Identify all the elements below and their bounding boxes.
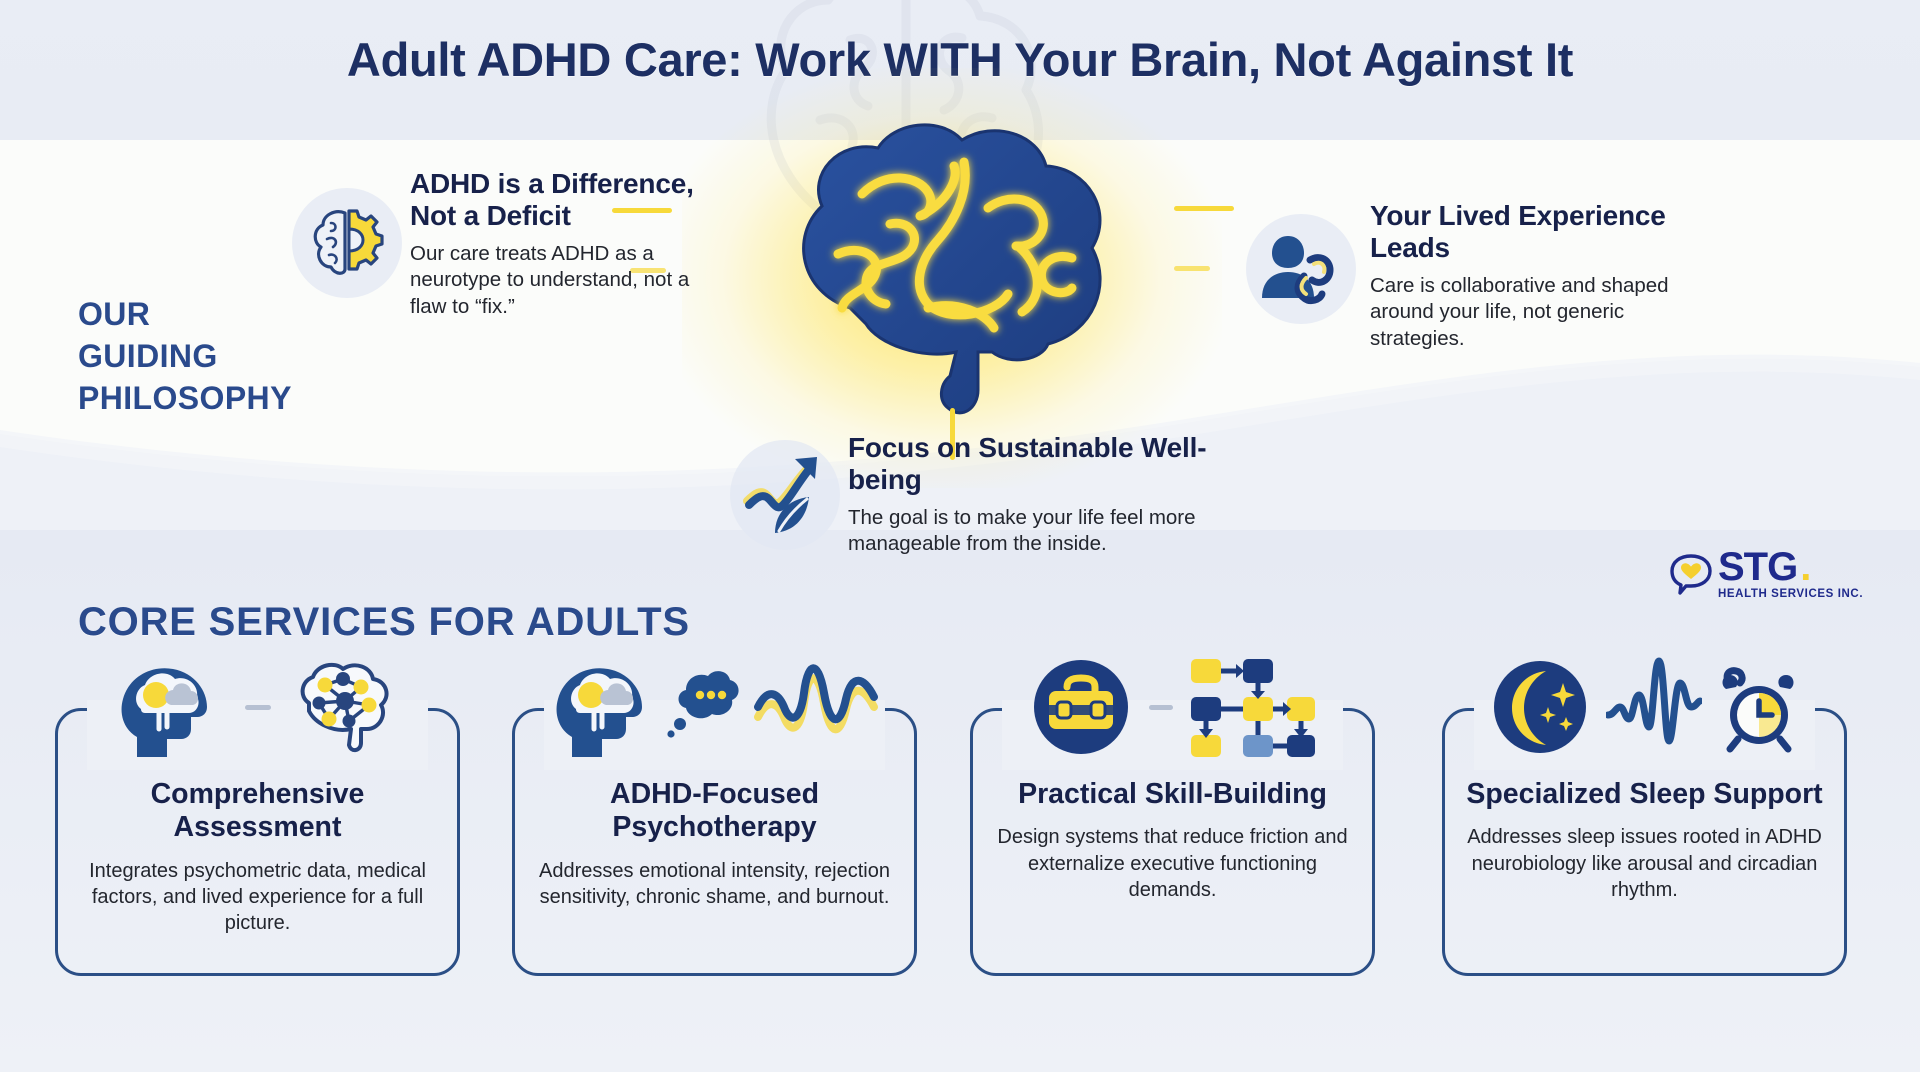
card-description: Integrates psychometric data, medical fa…: [75, 858, 440, 937]
card-description: Addresses emotional intensity, rejection…: [532, 858, 897, 910]
card-title: Comprehensive Assessment: [75, 778, 440, 845]
head-clouds-icon: [111, 653, 231, 761]
alarm-clock-icon: [1716, 661, 1802, 753]
thought-bubble-icon: [664, 664, 740, 750]
card-icons: [512, 648, 917, 766]
stg-logo: STG . HEALTH SERVICES INC.: [1668, 548, 1863, 600]
toolbox-icon: [1027, 653, 1135, 761]
person-link-glyph: [1258, 226, 1344, 312]
waveform-icon: [1606, 655, 1702, 759]
card-body: ADHD-Focused Psychotherapy Addresses emo…: [512, 778, 917, 910]
philosophy-body-1: Our care treats ADHD as a neurotype to u…: [410, 241, 710, 321]
logo-name: STG: [1718, 548, 1797, 586]
brain-svg: [742, 108, 1162, 438]
philosophy-label-line-3: PHILOSOPHY: [78, 377, 292, 419]
emotion-wave-icon: [754, 655, 884, 759]
philosophy-text-1: ADHD is a Difference, Not a Deficit Our …: [410, 168, 710, 321]
icon-connector-dash: [245, 705, 271, 710]
brain-gear-glyph: [305, 201, 389, 285]
card-title: Specialized Sleep Support: [1462, 778, 1827, 811]
card-icons: [1442, 648, 1847, 766]
infographic-canvas: Adult ADHD Care: Work WITH Your Brain, N…: [0, 0, 1920, 1072]
brain-network-icon: [285, 653, 405, 761]
philosophy-label-line-2: GUIDING: [78, 335, 292, 377]
card-description: Addresses sleep issues rooted in ADHD ne…: [1462, 824, 1827, 903]
flowchart-icon: [1187, 653, 1319, 761]
page-title: Adult ADHD Care: Work WITH Your Brain, N…: [0, 32, 1920, 87]
card-icons: [970, 648, 1375, 766]
logo-dot: .: [1800, 548, 1810, 586]
logo-wordmark: STG .: [1718, 548, 1863, 586]
growth-leaf-icon: [730, 440, 840, 550]
head-clouds-icon: [546, 653, 650, 761]
services-card-row: Comprehensive Assessment Integrates psyc…: [0, 648, 1920, 1048]
growth-arrow-leaf-glyph: [741, 451, 829, 539]
ray-right-2: [1174, 266, 1210, 271]
ray-right: [1174, 206, 1234, 211]
core-services-heading: CORE SERVICES FOR ADULTS: [78, 600, 690, 645]
philosophy-title-3: Focus on Sustainable Well-being: [848, 432, 1238, 496]
philosophy-body-2: Care is collaborative and shaped around …: [1370, 273, 1710, 353]
logo-text: STG . HEALTH SERVICES INC.: [1718, 548, 1863, 600]
icon-connector-dash: [1149, 705, 1173, 710]
card-body: Comprehensive Assessment Integrates psyc…: [55, 778, 460, 936]
card-title: Practical Skill-Building: [990, 778, 1355, 811]
philosophy-title-2: Your Lived Experience Leads: [1370, 200, 1710, 264]
logo-tagline: HEALTH SERVICES INC.: [1718, 588, 1863, 600]
guiding-philosophy-label: OUR GUIDING PHILOSOPHY: [78, 293, 292, 420]
brain-gear-icon: [292, 188, 402, 298]
philosophy-text-3: Focus on Sustainable Well-being The goal…: [848, 432, 1238, 558]
philosophy-title-1: ADHD is a Difference, Not a Deficit: [410, 168, 710, 232]
card-body: Practical Skill-Building Design systems …: [970, 778, 1375, 903]
card-description: Design systems that reduce friction and …: [990, 824, 1355, 903]
card-body: Specialized Sleep Support Addresses slee…: [1442, 778, 1847, 903]
philosophy-body-3: The goal is to make your life feel more …: [848, 505, 1238, 558]
card-icons: [55, 648, 460, 766]
hero-brain-illustration: [742, 108, 1162, 438]
philosophy-label-line-1: OUR: [78, 293, 292, 335]
person-link-icon: [1246, 214, 1356, 324]
heart-speech-bubble-icon: [1668, 552, 1714, 596]
moon-stars-icon: [1488, 655, 1592, 759]
philosophy-text-2: Your Lived Experience Leads Care is coll…: [1370, 200, 1710, 353]
card-title: ADHD-Focused Psychotherapy: [532, 778, 897, 845]
